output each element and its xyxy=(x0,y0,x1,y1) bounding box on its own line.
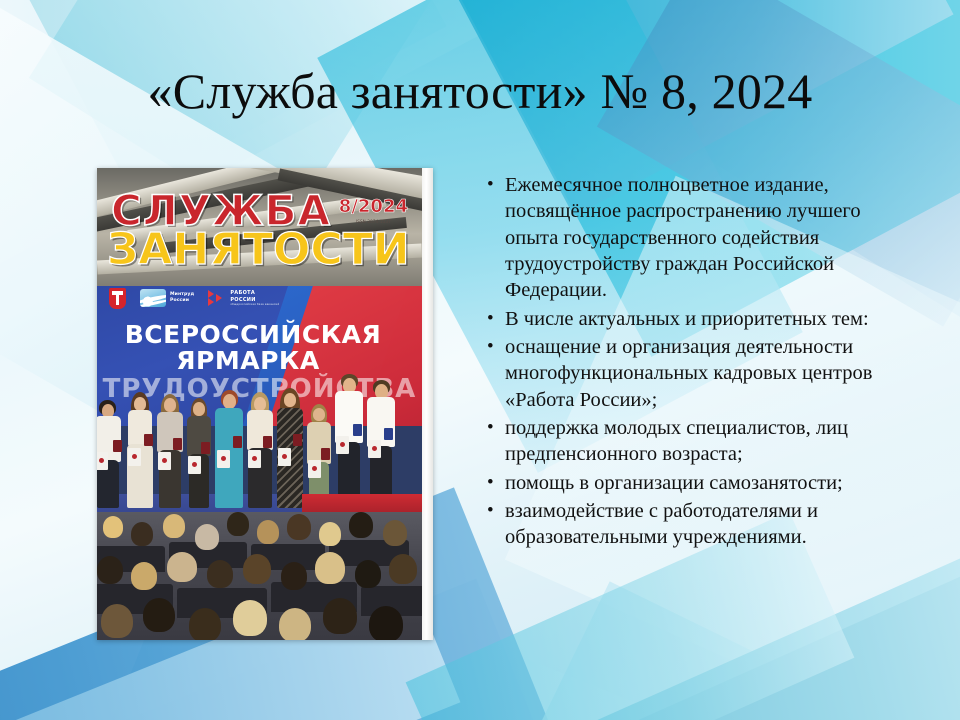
bullet-text: поддержка молодых специалистов, лиц пред… xyxy=(505,415,887,468)
bullet-text: оснащение и организация деятельности мно… xyxy=(505,334,887,413)
presentation-slide: «Служба занятости» № 8, 2024 СЛУЖБА ЗАНЯ… xyxy=(0,0,960,720)
cover-backdrop-word1: ВСЕРОССИЙСКАЯ xyxy=(103,320,403,349)
magazine-cover-edge xyxy=(422,168,433,640)
bullet-marker-icon: • xyxy=(487,415,505,440)
bullet-list: • Ежемесячное полноцветное издание, посв… xyxy=(487,172,887,553)
bullet-text: помощь в организации самозанятости; xyxy=(505,470,887,496)
cover-stage-people xyxy=(97,368,422,508)
list-item: • поддержка молодых специалистов, лиц пр… xyxy=(487,415,887,468)
cover-audience xyxy=(97,512,422,640)
list-item: • В числе актуальных и приоритетных тем: xyxy=(487,306,887,332)
bullet-marker-icon: • xyxy=(487,306,505,331)
cover-issn: ISSN 2074-1537 xyxy=(339,219,408,224)
bullet-marker-icon: • xyxy=(487,334,505,359)
list-item: • Ежемесячное полноцветное издание, посв… xyxy=(487,172,887,304)
magazine-cover-artwork: СЛУЖБА ЗАНЯТОСТИ 8/2024 ISSN 2074-1537 М… xyxy=(97,168,422,640)
bullet-text: В числе актуальных и приоритетных тем: xyxy=(505,306,887,332)
bullet-marker-icon: • xyxy=(487,172,505,197)
bullet-marker-icon: • xyxy=(487,498,505,523)
cover-issue-badge: 8/2024 ISSN 2074-1537 xyxy=(339,196,408,224)
bullet-text: взаимодействие с работодателями и образо… xyxy=(505,498,887,551)
background-shape-bottomright-3 xyxy=(487,581,960,720)
rabota-rossii-sub: общероссийская база вакансий xyxy=(230,303,279,306)
arrows-icon xyxy=(208,290,226,306)
rabota-rossii-logo: РАБОТА РОССИИ общероссийская база ваканс… xyxy=(208,290,279,306)
mintrud-logo: Минтруд России xyxy=(140,289,194,307)
rostrud-emblem-icon xyxy=(109,288,126,309)
mintrud-label-line2: России xyxy=(170,298,194,304)
list-item: • оснащение и организация деятельности м… xyxy=(487,334,887,413)
list-item: • взаимодействие с работодателями и обра… xyxy=(487,498,887,551)
cover-logo-strip: Минтруд России РАБОТА РОССИИ общероссийс… xyxy=(109,286,279,310)
cover-title-line2: ЗАНЯТОСТИ xyxy=(107,228,410,272)
cover-issue-number: 8/2024 xyxy=(339,196,408,217)
list-item: • помощь в организации самозанятости; xyxy=(487,470,887,496)
bullet-text: Ежемесячное полноцветное издание, посвящ… xyxy=(505,172,887,304)
slide-title: «Служба занятости» № 8, 2024 xyxy=(0,62,960,120)
cover-stage-floor-red xyxy=(302,494,422,514)
wave-icon xyxy=(140,289,166,307)
magazine-cover-image: СЛУЖБА ЗАНЯТОСТИ 8/2024 ISSN 2074-1537 М… xyxy=(97,168,433,640)
bullet-marker-icon: • xyxy=(487,470,505,495)
